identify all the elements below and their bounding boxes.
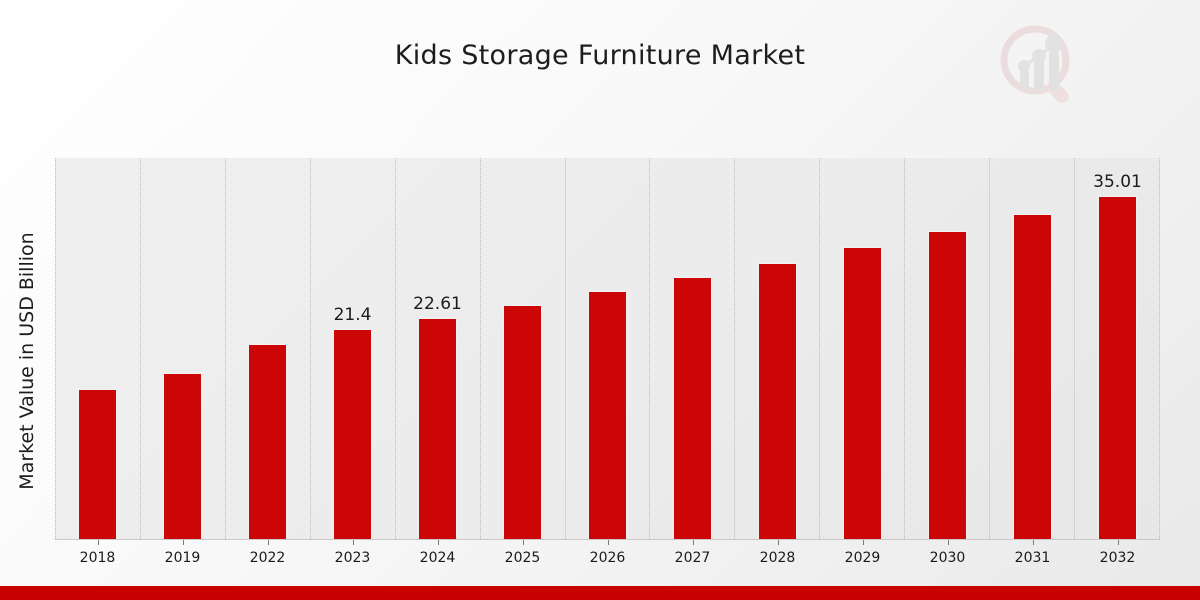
- tick-mark: [1033, 540, 1034, 545]
- bar[interactable]: [248, 344, 287, 539]
- bar[interactable]: [758, 263, 797, 539]
- x-axis-tick-label: 2030: [905, 540, 990, 570]
- x-tick-text: 2030: [930, 550, 966, 566]
- tick-mark: [608, 540, 609, 545]
- bar-column[interactable]: [820, 158, 905, 539]
- footer-accent-bar: [0, 586, 1200, 600]
- bar[interactable]: [163, 373, 202, 539]
- tick-mark: [98, 540, 99, 545]
- bar-column[interactable]: [480, 158, 565, 539]
- bar-column[interactable]: [990, 158, 1075, 539]
- x-tick-text: 2025: [505, 550, 541, 566]
- bar-value-label: 35.01: [1075, 172, 1160, 192]
- bar-column[interactable]: [55, 158, 140, 539]
- tick-mark: [778, 540, 779, 545]
- bar-column[interactable]: [565, 158, 650, 539]
- bar[interactable]: [333, 329, 372, 539]
- y-axis-title: Market Value in USD Billion: [16, 166, 38, 556]
- bar-column[interactable]: [140, 158, 225, 539]
- page-title: Kids Storage Furniture Market: [0, 40, 1200, 71]
- x-axis-tick-label: 2024: [395, 540, 480, 570]
- bar[interactable]: [588, 291, 627, 539]
- x-tick-text: 2019: [165, 550, 201, 566]
- bar-column[interactable]: 22.61: [395, 158, 480, 539]
- tick-mark: [353, 540, 354, 545]
- x-tick-text: 2023: [335, 550, 371, 566]
- bar[interactable]: [928, 231, 967, 539]
- x-axis-tick-label: 2019: [140, 540, 225, 570]
- x-axis-tick-label: 2027: [650, 540, 735, 570]
- x-tick-text: 2024: [420, 550, 456, 566]
- tick-mark: [863, 540, 864, 545]
- x-axis-tick-label: 2028: [735, 540, 820, 570]
- bar-column[interactable]: 35.01: [1075, 158, 1160, 539]
- tick-mark: [948, 540, 949, 545]
- bar[interactable]: [673, 277, 712, 539]
- x-tick-text: 2022: [250, 550, 286, 566]
- x-axis-tick-label: 2023: [310, 540, 395, 570]
- bar-column[interactable]: [650, 158, 735, 539]
- bar-value-label: 22.61: [395, 294, 480, 314]
- bar-series: 21.422.6135.01: [55, 158, 1160, 539]
- x-axis-tick-label: 2032: [1075, 540, 1160, 570]
- x-tick-text: 2018: [80, 550, 116, 566]
- bar-column[interactable]: [735, 158, 820, 539]
- tick-mark: [693, 540, 694, 545]
- x-axis-tick-label: 2022: [225, 540, 310, 570]
- plot-area: 21.422.6135.01: [55, 158, 1160, 540]
- bar[interactable]: [1013, 214, 1052, 539]
- x-axis-tick-label: 2018: [55, 540, 140, 570]
- tick-mark: [183, 540, 184, 545]
- bar-value-label: 21.4: [310, 305, 395, 325]
- x-tick-text: 2032: [1100, 550, 1136, 566]
- bar[interactable]: [418, 318, 457, 539]
- tick-mark: [438, 540, 439, 545]
- x-axis-tick-label: 2031: [990, 540, 1075, 570]
- bar[interactable]: [503, 305, 542, 539]
- bar-column[interactable]: 21.4: [310, 158, 395, 539]
- x-axis-tick-label: 2029: [820, 540, 905, 570]
- x-axis-tick-label: 2026: [565, 540, 650, 570]
- bar[interactable]: [843, 247, 882, 539]
- x-tick-text: 2028: [760, 550, 796, 566]
- bar-column[interactable]: [225, 158, 310, 539]
- x-axis: 2018201920222023202420252026202720282029…: [55, 540, 1160, 570]
- bar-column[interactable]: [905, 158, 990, 539]
- x-tick-text: 2027: [675, 550, 711, 566]
- x-tick-text: 2031: [1015, 550, 1051, 566]
- x-tick-text: 2026: [590, 550, 626, 566]
- x-axis-tick-label: 2025: [480, 540, 565, 570]
- bar[interactable]: [78, 389, 117, 539]
- tick-mark: [268, 540, 269, 545]
- x-tick-text: 2029: [845, 550, 881, 566]
- bar[interactable]: [1098, 196, 1137, 539]
- tick-mark: [1118, 540, 1119, 545]
- tick-mark: [523, 540, 524, 545]
